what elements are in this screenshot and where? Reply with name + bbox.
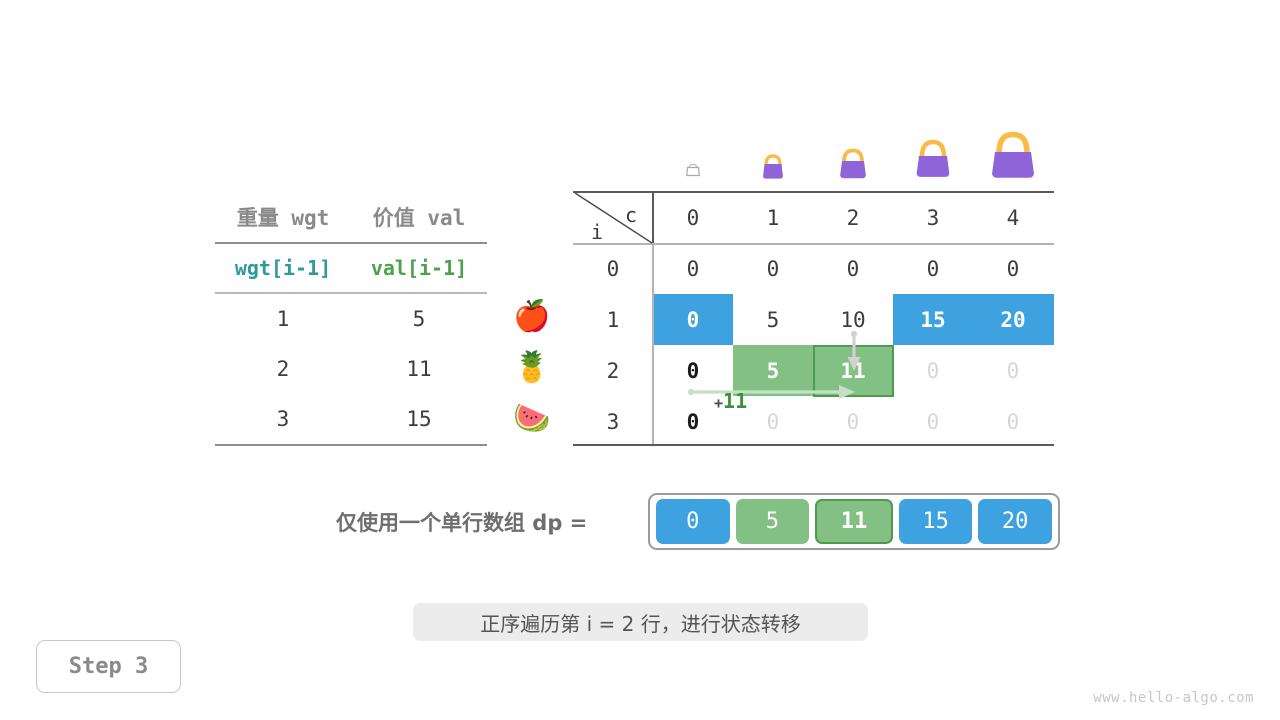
horizontal-arrow-head [839, 385, 855, 399]
bag-capacity-4-icon [982, 120, 1044, 182]
watermark: www.hello-algo.com [1093, 690, 1254, 706]
dp-array-label: 仅使用一个单行数组 dp = [336, 507, 587, 537]
vertical-arrow-head [848, 357, 861, 371]
item-table-subheader-wgt: wgt[i-1] [215, 256, 351, 280]
item-table-row: 1 5 [215, 294, 487, 344]
bag-capacity-0-icon [681, 157, 705, 181]
bag-capacity-3-icon [908, 130, 958, 181]
pineapple-icon: 🍍 [512, 348, 552, 388]
item-table-header-val: 价值 val [351, 202, 487, 232]
step-badge: Step 3 [36, 640, 181, 693]
dp-array-cell-4[interactable]: 20 [978, 499, 1052, 544]
item-table-row: 2 11 [215, 344, 487, 394]
transition-gain-label: +11 [714, 389, 747, 413]
bag-capacity-1-icon [757, 147, 789, 181]
item-table-subheader-row: wgt[i-1] val[i-1] [215, 244, 487, 292]
item-table-row: 3 15 [215, 394, 487, 444]
item-wgt-3: 3 [215, 407, 351, 431]
item-val-3: 15 [351, 407, 487, 431]
dp-array-cell-3[interactable]: 15 [899, 499, 973, 544]
item-val-2: 11 [351, 357, 487, 381]
transition-gain-amount: 11 [723, 389, 747, 413]
item-table: 重量 wgt 价值 val wgt[i-1] val[i-1] 1 5 2 11… [215, 192, 487, 446]
item-table-header-wgt: 重量 wgt [215, 202, 351, 232]
dp-array-cell-1[interactable]: 5 [736, 499, 810, 544]
item-table-subheader-val: val[i-1] [351, 256, 487, 280]
transition-arrows [573, 191, 1054, 446]
apple-icon: 🍎 [512, 297, 552, 337]
item-table-header-row: 重量 wgt 价值 val [215, 192, 487, 242]
dp-array-cell-0[interactable]: 0 [656, 499, 730, 544]
item-val-1: 5 [351, 307, 487, 331]
bag-capacity-2-icon [833, 140, 873, 181]
transition-gain-sign: + [714, 394, 723, 412]
dp-array: 0 5 11 15 20 [648, 493, 1060, 550]
item-table-rule-bottom [215, 444, 487, 446]
watermelon-icon: 🍉 [512, 399, 552, 439]
dp-grid: c i 0 1 2 3 4 0 1 2 3 0 0 0 0 0 0 5 10 1… [573, 191, 1054, 446]
item-wgt-1: 1 [215, 307, 351, 331]
caption-banner: 正序遍历第 i = 2 行，进行状态转移 [413, 603, 868, 641]
item-wgt-2: 2 [215, 357, 351, 381]
dp-array-cell-2[interactable]: 11 [815, 499, 893, 544]
